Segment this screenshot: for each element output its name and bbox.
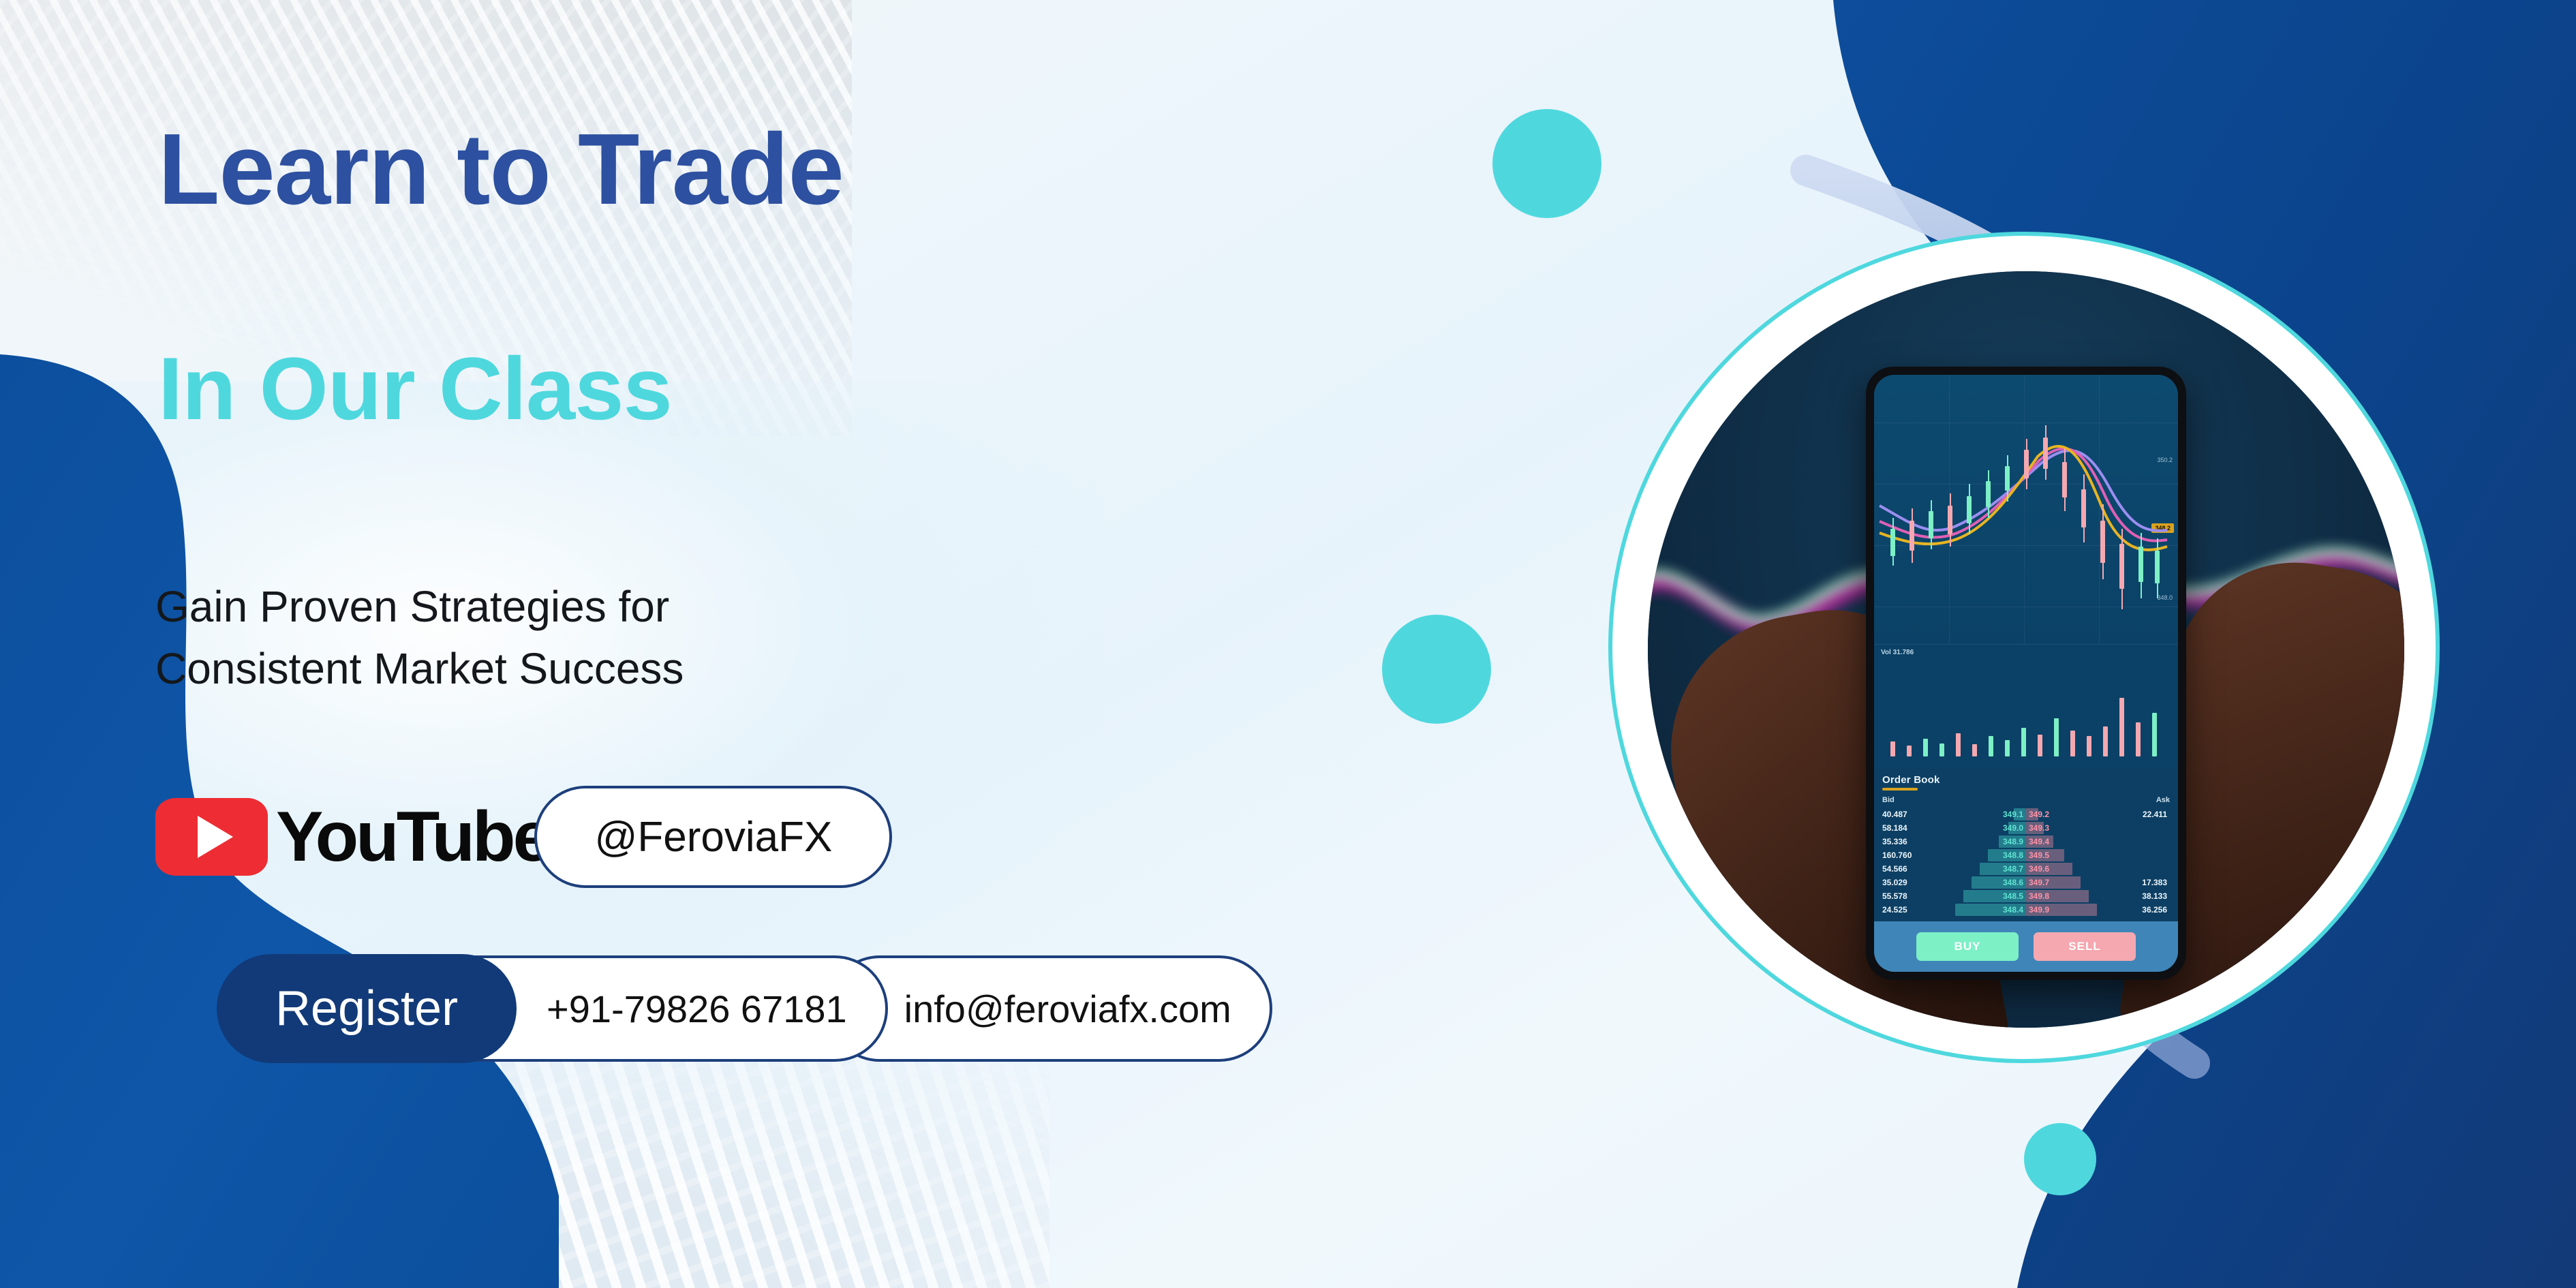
text-content: Learn to Trade In Our Class Gain Proven … [0, 0, 1431, 1288]
sell-button[interactable]: SELL [2034, 932, 2136, 961]
order-book-underline [1882, 788, 1918, 791]
youtube-handle-pill[interactable]: @FeroviaFX [534, 786, 892, 888]
candlestick-chart: 350.2 348.0 348.2 [1874, 375, 2178, 644]
order-book-row: 58.184 349.0 349.3 [1882, 821, 2170, 835]
bid-qty: 24.525 [1882, 905, 1945, 915]
subheadline-line-1: Gain Proven Strategies for [155, 576, 684, 638]
bid-qty: 40.487 [1882, 810, 1945, 819]
youtube-wordmark: YouTube [276, 801, 549, 872]
subheadline-line-2: Consistent Market Success [155, 638, 684, 700]
headline-secondary: In Our Class [158, 344, 672, 433]
decor-dot-top [1492, 109, 1601, 218]
ask-qty: 36.256 [2142, 905, 2167, 915]
bid-price: 349.0 [2003, 823, 2023, 833]
ask-qty: 22.411 [2143, 810, 2167, 819]
ask-price: 349.3 [2029, 823, 2049, 833]
contact-bar: Register +91-79826 67181 info@feroviafx.… [217, 954, 1272, 1063]
bid-price: 348.6 [2003, 878, 2023, 887]
bid-qty: 35.336 [1882, 837, 1945, 846]
email-pill[interactable]: info@feroviafx.com [827, 955, 1272, 1062]
moving-average-lines [1874, 375, 2178, 644]
bid-price: 348.7 [2003, 864, 2023, 874]
subheadline: Gain Proven Strategies for Consistent Ma… [155, 576, 684, 700]
bid-price: 348.8 [2003, 850, 2023, 860]
ask-price: 349.8 [2029, 891, 2049, 901]
ask-price: 349.2 [2029, 810, 2049, 819]
ask-price: 349.6 [2029, 864, 2049, 874]
bid-qty: 160.760 [1882, 850, 1945, 860]
promo-banner: 350.2 348.0 348.2 [0, 0, 2576, 1288]
ask-price: 349.5 [2029, 850, 2049, 860]
order-book-row: 24.525 348.4 349.9 36.256 [1882, 903, 2170, 917]
order-book-row: 55.578 348.5 349.8 38.133 [1882, 889, 2170, 903]
smartphone-device: 350.2 348.0 348.2 [1866, 367, 2186, 980]
order-book-row: 35.336 348.9 349.4 [1882, 835, 2170, 848]
order-book-rows: 40.487 349.1 349.2 22.411 58.184 349.0 3… [1882, 808, 2170, 917]
bid-qty: 54.566 [1882, 864, 1945, 874]
decor-dot-bottom [2024, 1123, 2096, 1195]
volume-label: Vol 31.786 [1881, 649, 1914, 656]
trading-phone-photo: 350.2 348.0 348.2 [1648, 271, 2404, 1028]
ask-column-header: Ask [2156, 796, 2170, 804]
ask-price: 349.4 [2029, 837, 2049, 846]
phone-screen: 350.2 348.0 348.2 [1874, 375, 2178, 972]
order-book-row: 160.760 348.8 349.5 [1882, 848, 2170, 862]
order-book-panel: Order Book Bid Ask 40.487 349.1 349.2 [1874, 767, 2178, 972]
bid-price: 349.1 [2003, 810, 2023, 819]
ask-qty: 38.133 [2142, 891, 2167, 901]
headline-primary: Learn to Trade [158, 119, 844, 220]
circular-photo-frame: 350.2 348.0 348.2 [1608, 232, 2440, 1063]
ask-price: 349.7 [2029, 878, 2049, 887]
youtube-logo[interactable]: YouTube [155, 798, 549, 876]
youtube-play-icon [155, 798, 268, 876]
bid-qty: 55.578 [1882, 891, 1945, 901]
bid-qty: 35.029 [1882, 878, 1945, 887]
bid-qty: 58.184 [1882, 823, 1945, 833]
youtube-row: YouTube @FeroviaFX [155, 796, 892, 878]
bid-price: 348.4 [2003, 905, 2023, 915]
order-book-title: Order Book [1882, 774, 2170, 786]
bid-price: 348.5 [2003, 891, 2023, 901]
buy-button[interactable]: BUY [1916, 932, 2019, 961]
bid-price: 348.9 [2003, 837, 2023, 846]
ask-price: 349.9 [2029, 905, 2049, 915]
order-book-row: 54.566 348.7 349.6 [1882, 862, 2170, 876]
order-book-row: 40.487 349.1 349.2 22.411 [1882, 808, 2170, 821]
order-actions: BUY SELL [1874, 921, 2178, 972]
bid-column-header: Bid [1882, 796, 1895, 804]
order-book-row: 35.029 348.6 349.7 17.383 [1882, 876, 2170, 889]
register-button[interactable]: Register [217, 954, 517, 1063]
volume-chart: Vol 31.786 [1874, 644, 2178, 767]
ask-qty: 17.383 [2142, 878, 2167, 887]
